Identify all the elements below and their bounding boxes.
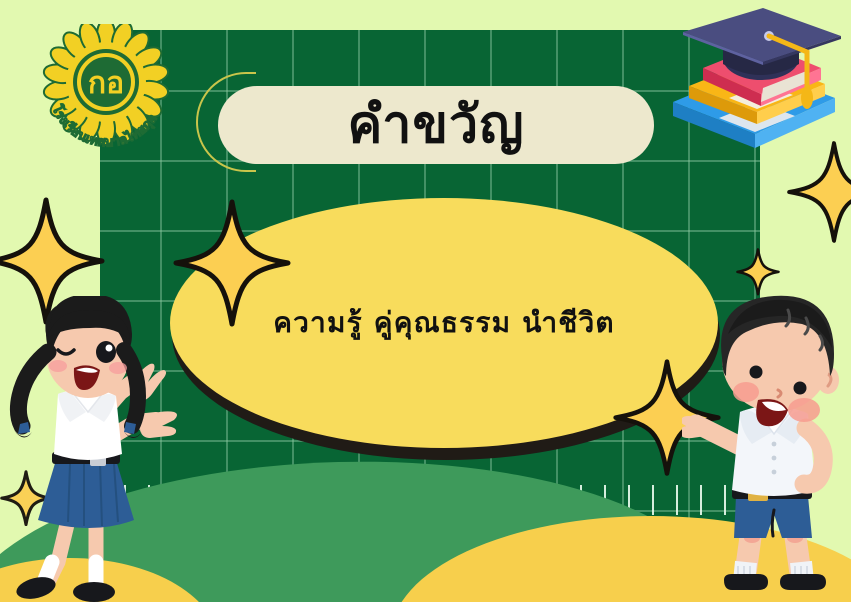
slide-canvas: คำขวัญ ความรู้ คู่คุณธรรม นำชีวิต: [0, 0, 851, 602]
motto-text: ความรู้ คู่คุณธรรม นำชีวิต: [273, 301, 615, 345]
logo-center-letters: กอ: [88, 66, 124, 101]
four-point-sparkle-icon: [786, 140, 851, 250]
four-point-sparkle-icon: [172, 198, 292, 328]
girl-student-icon: [0, 296, 186, 602]
boy-student-icon: [682, 288, 851, 602]
page-title: คำขวัญ: [347, 99, 524, 151]
book-stack-icon: [659, 6, 849, 156]
school-sunburst-logo-icon: กอ โรงเรียนเทศบาลไทยกุล: [32, 24, 180, 152]
title-banner: คำขวัญ: [218, 86, 654, 164]
